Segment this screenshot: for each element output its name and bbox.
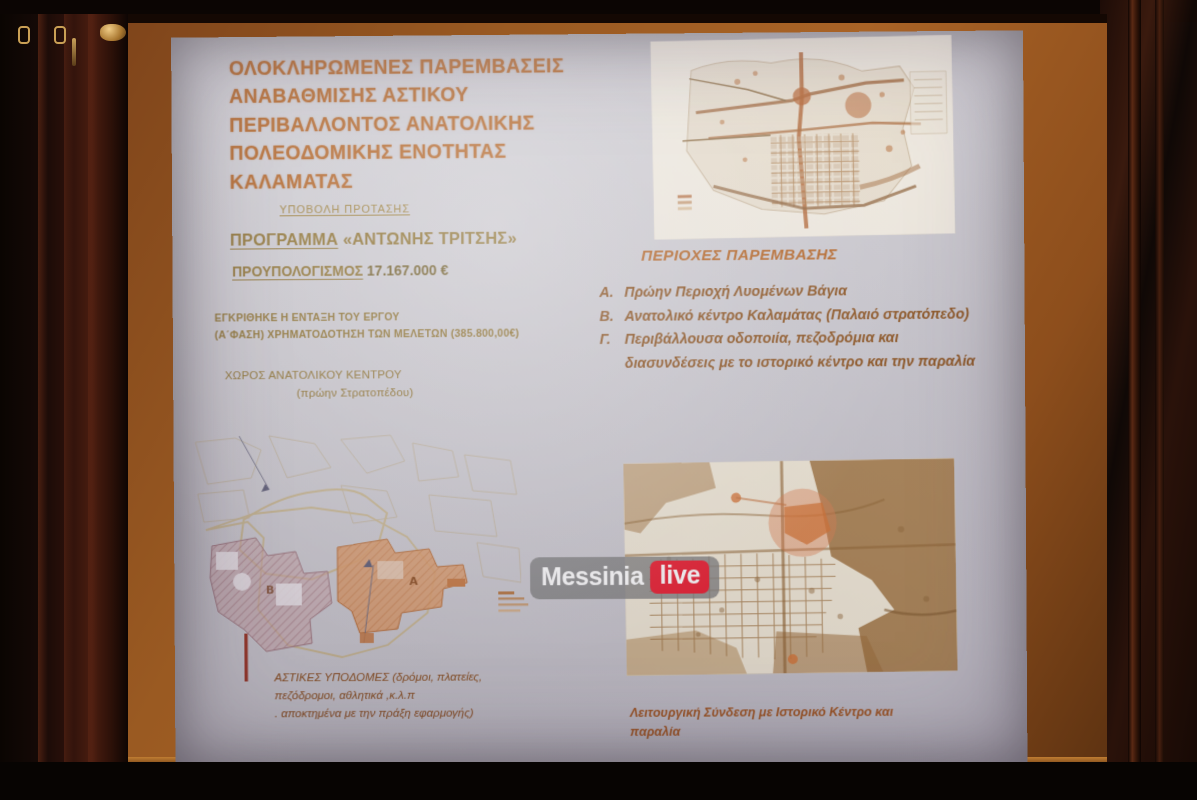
- curtain-fold: [38, 14, 48, 774]
- caption-right-line: Λειτουργική Σύνδεση με Ιστορικό Κέντρο κ…: [630, 703, 971, 723]
- map-legend-strip: [498, 590, 532, 616]
- curtain-ring: [54, 26, 66, 44]
- caption-right: Λειτουργική Σύνδεση με Ιστορικό Κέντρο κ…: [630, 703, 971, 742]
- zone-b-label: B: [266, 584, 274, 597]
- areas-list: Α. Πρώην Περιοχή Λυομένων Βάγια Β. Ανατο…: [599, 279, 991, 376]
- area-item: Β. Ανατολικό κέντρο Καλαμάτας (Παλαιό στ…: [599, 303, 990, 329]
- right-wall: [1100, 0, 1197, 800]
- programme-name: «ΑΝΤΩΝΗΣ ΤΡΙΤΣΗΣ»: [343, 230, 517, 249]
- area-label: Α.: [599, 282, 616, 306]
- site-label-block: ΧΩΡΟΣ ΑΝΑΤΟΛΙΚΟΥ ΚΕΝΤΡΟΥ (πρώην Στρατοπέ…: [225, 367, 414, 404]
- city-plan-map-drawing: [650, 35, 955, 240]
- right-wall-trim: [1128, 0, 1141, 800]
- site-label-line-1: ΧΩΡΟΣ ΑΝΑΤΟΛΙΚΟΥ ΚΕΝΤΡΟΥ: [225, 369, 402, 382]
- site-plan-zones: B A: [191, 432, 521, 683]
- area-label: Γ.: [600, 329, 617, 376]
- budget-value: 17.167.000 €: [367, 262, 449, 279]
- watermark-messinia-live: Messinia live: [530, 556, 720, 599]
- presentation-slide: ΟΛΟΚΛΗΡΩΜΕΝΕΣ ΠΑΡΕΜΒΑΣΕΙΣ ΑΝΑΒΑΘΜΙΣΗΣ ΑΣ…: [171, 30, 1027, 765]
- title-line: ΠΟΛΕΟΔΟΜΙΚΗΣ ΕΝΟΤΗΤΑΣ: [229, 137, 648, 169]
- areas-heading: ΠΕΡΙΟΧΕΣ ΠΑΡΕΜΒΑΣΗΣ: [641, 246, 837, 265]
- title-line: ΚΑΛΑΜΑΤΑΣ: [230, 165, 649, 197]
- area-label: Β.: [599, 305, 616, 329]
- caption-left: ΑΣΤΙΚΕΣ ΥΠΟΔΟΜΕΣ (δρόμοι, πλατείες, πεζό…: [274, 668, 574, 724]
- curtain-ring: [18, 26, 30, 44]
- curtain-hook: [72, 38, 76, 66]
- curtain-fold: [64, 14, 74, 774]
- approval-line-2: (Α΄ΦΑΣΗ) ΧΡΗΜΑΤΟΔΟΤΗΣΗ ΤΩΝ ΜΕΛΕΤΩΝ (385.…: [215, 326, 520, 345]
- caption-left-line: πεζόδρομοι, αθλητικά ,κ.λ.π: [274, 686, 573, 705]
- zone-a-label: A: [409, 575, 418, 588]
- curtain-fold: [88, 14, 98, 774]
- watermark-primary-text: Messinia: [541, 565, 644, 591]
- area-item: Γ. Περιβάλλουσα οδοποιία, πεζοδρόμια και…: [600, 327, 991, 377]
- caption-left-line: . αποκτημένα με την πράξη εφαρμογής): [275, 704, 574, 723]
- right-wall-trim-secondary: [1155, 0, 1164, 800]
- area-text: Περιβάλλουσα οδοποιία, πεζοδρόμια και δι…: [625, 327, 991, 377]
- submission-label: ΥΠΟΒΟΛΗ ΠΡΟΤΑΣΗΣ: [280, 203, 411, 216]
- screen-top-edge: [95, 14, 1107, 23]
- budget-line: ΠΡΟΥΠΟΛΟΓΙΣΜΟΣ 17.167.000 €: [232, 262, 448, 279]
- approval-line-1: ΕΓΚΡΙΘΗΚΕ Η ΕΝΤΑΞΗ ΤΟΥ ΕΡΓΟΥ: [214, 309, 519, 328]
- legend-bars: [498, 590, 532, 616]
- area-text: Ανατολικό κέντρο Καλαμάτας (Παλαιό στρατ…: [624, 303, 969, 329]
- curtain-rod-finial: [100, 24, 126, 41]
- watermark-accent-text: live: [650, 560, 709, 593]
- caption-right-line: παραλία: [630, 721, 971, 741]
- budget-label: ΠΡΟΥΠΟΛΟΓΙΣΜΟΣ: [232, 263, 363, 280]
- foreground-shadow: [0, 762, 1197, 800]
- approval-block: ΕΓΚΡΙΘΗΚΕ Η ΕΝΤΑΞΗ ΤΟΥ ΕΡΓΟΥ (Α΄ΦΑΣΗ) ΧΡ…: [214, 309, 519, 345]
- projected-slide-photo: ΟΛΟΚΛΗΡΩΜΕΝΕΣ ΠΑΡΕΜΒΑΣΕΙΣ ΑΝΑΒΑΘΜΙΣΗΣ ΑΣ…: [0, 0, 1197, 800]
- area-text: Πρώην Περιοχή Λυομένων Βάγια: [624, 280, 847, 305]
- site-plan-drawing: B A: [191, 432, 521, 683]
- site-label-line-2: (πρώην Στρατοπέδου): [225, 385, 414, 404]
- slide-title: ΟΛΟΚΛΗΡΩΜΕΝΕΣ ΠΑΡΕΜΒΑΣΕΙΣ ΑΝΑΒΑΘΜΙΣΗΣ ΑΣ…: [229, 52, 649, 198]
- caption-left-line: ΑΣΤΙΚΕΣ ΥΠΟΔΟΜΕΣ (δρόμοι, πλατείες,: [274, 668, 573, 687]
- title-line: ΑΝΑΒΑΘΜΙΣΗΣ ΑΣΤΙΚΟΥ: [229, 80, 648, 112]
- city-plan-map: [650, 35, 955, 240]
- title-line: ΟΛΟΚΛΗΡΩΜΕΝΕΣ ΠΑΡΕΜΒΑΣΕΙΣ: [229, 52, 648, 84]
- programme-label: ΠΡΟΓΡΑΜΜΑ: [230, 231, 338, 250]
- title-line: ΠΕΡΙΒΑΛΛΟΝΤΟΣ ΑΝΑΤΟΛΙΚΗΣ: [229, 109, 648, 141]
- area-item: Α. Πρώην Περιοχή Λυομένων Βάγια: [599, 279, 990, 305]
- programme-line: ΠΡΟΓΡΑΜΜΑ «ΑΝΤΩΝΗΣ ΤΡΙΤΣΗΣ»: [230, 230, 517, 251]
